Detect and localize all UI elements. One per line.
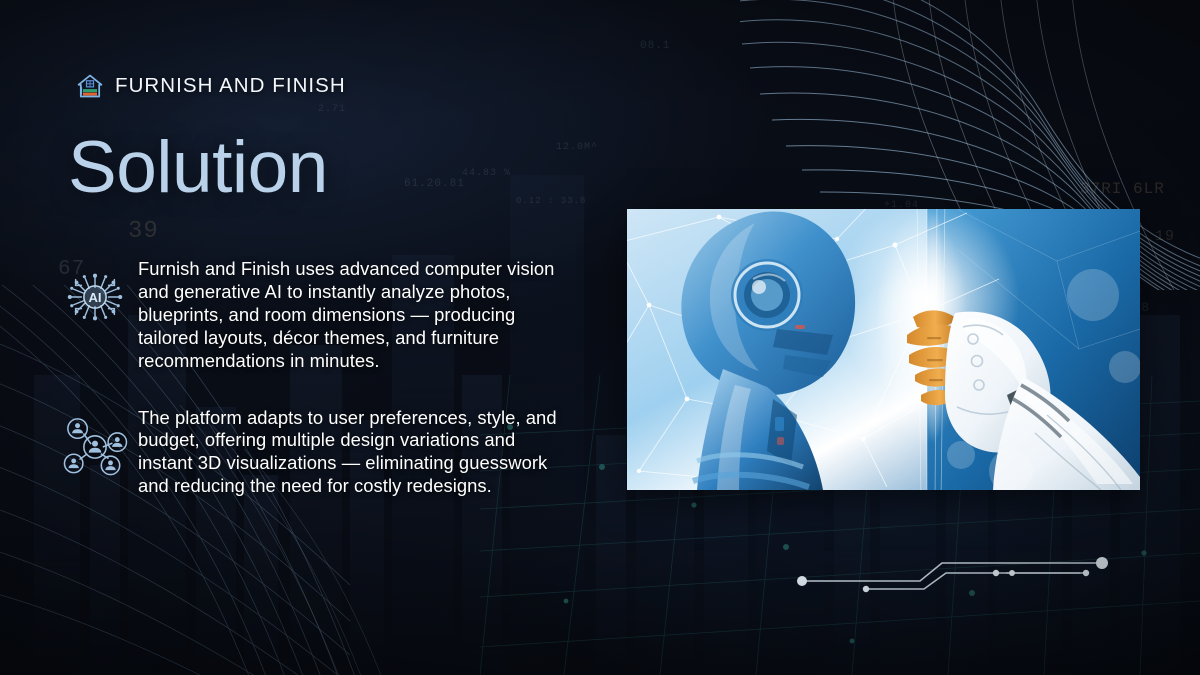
ai-chip-icon: AI [64, 266, 126, 328]
content-block-text: Furnish and Finish uses advanced compute… [138, 258, 572, 373]
brand-name: FURNISH AND FINISH [115, 74, 346, 98]
content-blocks: AI Furnish and Finish uses advanced comp… [52, 258, 572, 498]
user-network-icon-wrap [52, 407, 138, 477]
page-title: Solution [68, 131, 328, 204]
content-block-platform: The platform adapts to user preferences,… [52, 407, 572, 499]
content-block-text: The platform adapts to user preferences,… [138, 407, 572, 499]
solution-photo [627, 209, 1140, 490]
ai-chip-icon-wrap: AI [52, 258, 138, 328]
ai-chip-icon-label: AI [88, 290, 101, 305]
brand-header: FURNISH AND FINISH [76, 72, 346, 100]
user-network-icon [62, 415, 128, 477]
slide-root: 39 67 37RI 6LR 19 65 -8 61.20.81 44.83 %… [0, 0, 1200, 675]
content-block-ai: AI Furnish and Finish uses advanced comp… [52, 258, 572, 373]
robot-handshake-illustration [627, 209, 1140, 490]
house-furniture-logo-icon [76, 72, 104, 100]
